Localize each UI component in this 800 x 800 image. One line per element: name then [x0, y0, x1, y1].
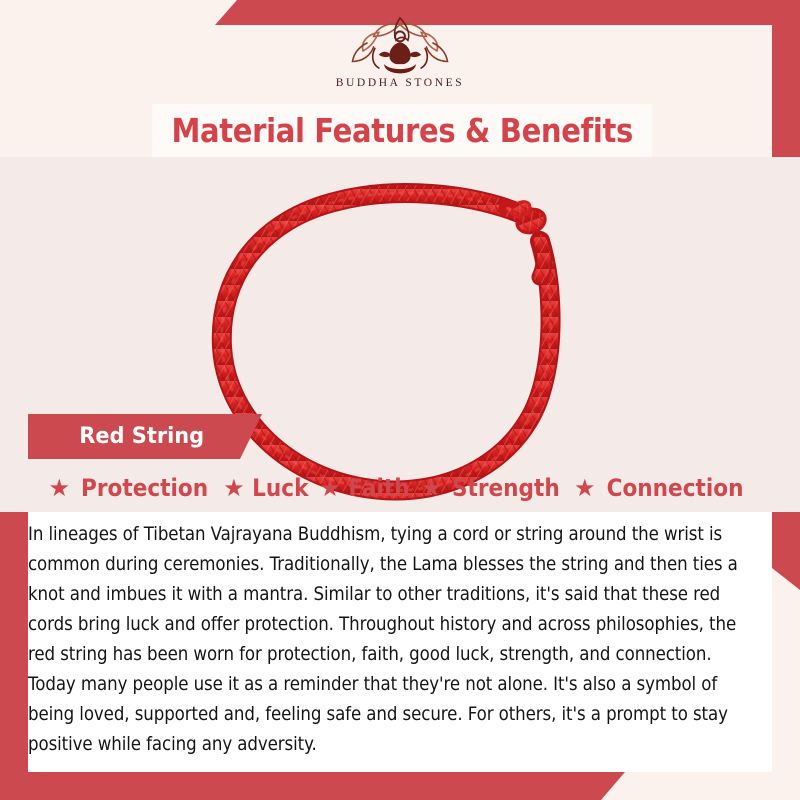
benefit-label: Connection: [607, 474, 744, 502]
benefit-label: Luck: [252, 474, 308, 502]
brand-header: BUDDHA STONES: [0, 0, 800, 104]
benefit-item-4: ★ Connection: [574, 474, 752, 502]
benefit-label: Faith: [348, 474, 409, 502]
star-icon: ★: [421, 476, 443, 500]
benefit-item-2: ★ Faith: [319, 474, 412, 502]
benefit-label: Strength: [452, 474, 560, 502]
product-label: Red String: [79, 424, 204, 449]
title-banner: Material Features & Benefits: [152, 104, 652, 157]
benefit-label: Protection: [81, 474, 208, 502]
description-panel: In lineages of Tibetan Vajrayana Buddhis…: [28, 512, 772, 772]
star-icon: ★: [319, 476, 341, 500]
infographic-poster: BUDDHA STONES Material Features & Benefi…: [0, 0, 800, 800]
decor-bar-bottom: [0, 772, 625, 800]
description-text: In lineages of Tibetan Vajrayana Buddhis…: [28, 520, 762, 760]
page-title: Material Features & Benefits: [171, 111, 632, 150]
lotus-meditation-icon: [332, 10, 468, 76]
product-label-ribbon: Red String: [28, 414, 262, 459]
benefit-item-1: ★ Luck: [223, 474, 311, 502]
star-icon: ★: [48, 476, 70, 500]
brand-name: BUDDHA STONES: [336, 77, 464, 89]
benefits-list: ★ Protection ★ Luck ★ Faith ★ Strength ★…: [28, 463, 772, 512]
benefit-item-3: ★ Strength: [421, 474, 566, 502]
star-icon: ★: [223, 476, 245, 500]
benefit-item-0: ★ Protection: [48, 474, 215, 502]
star-icon: ★: [574, 476, 596, 500]
